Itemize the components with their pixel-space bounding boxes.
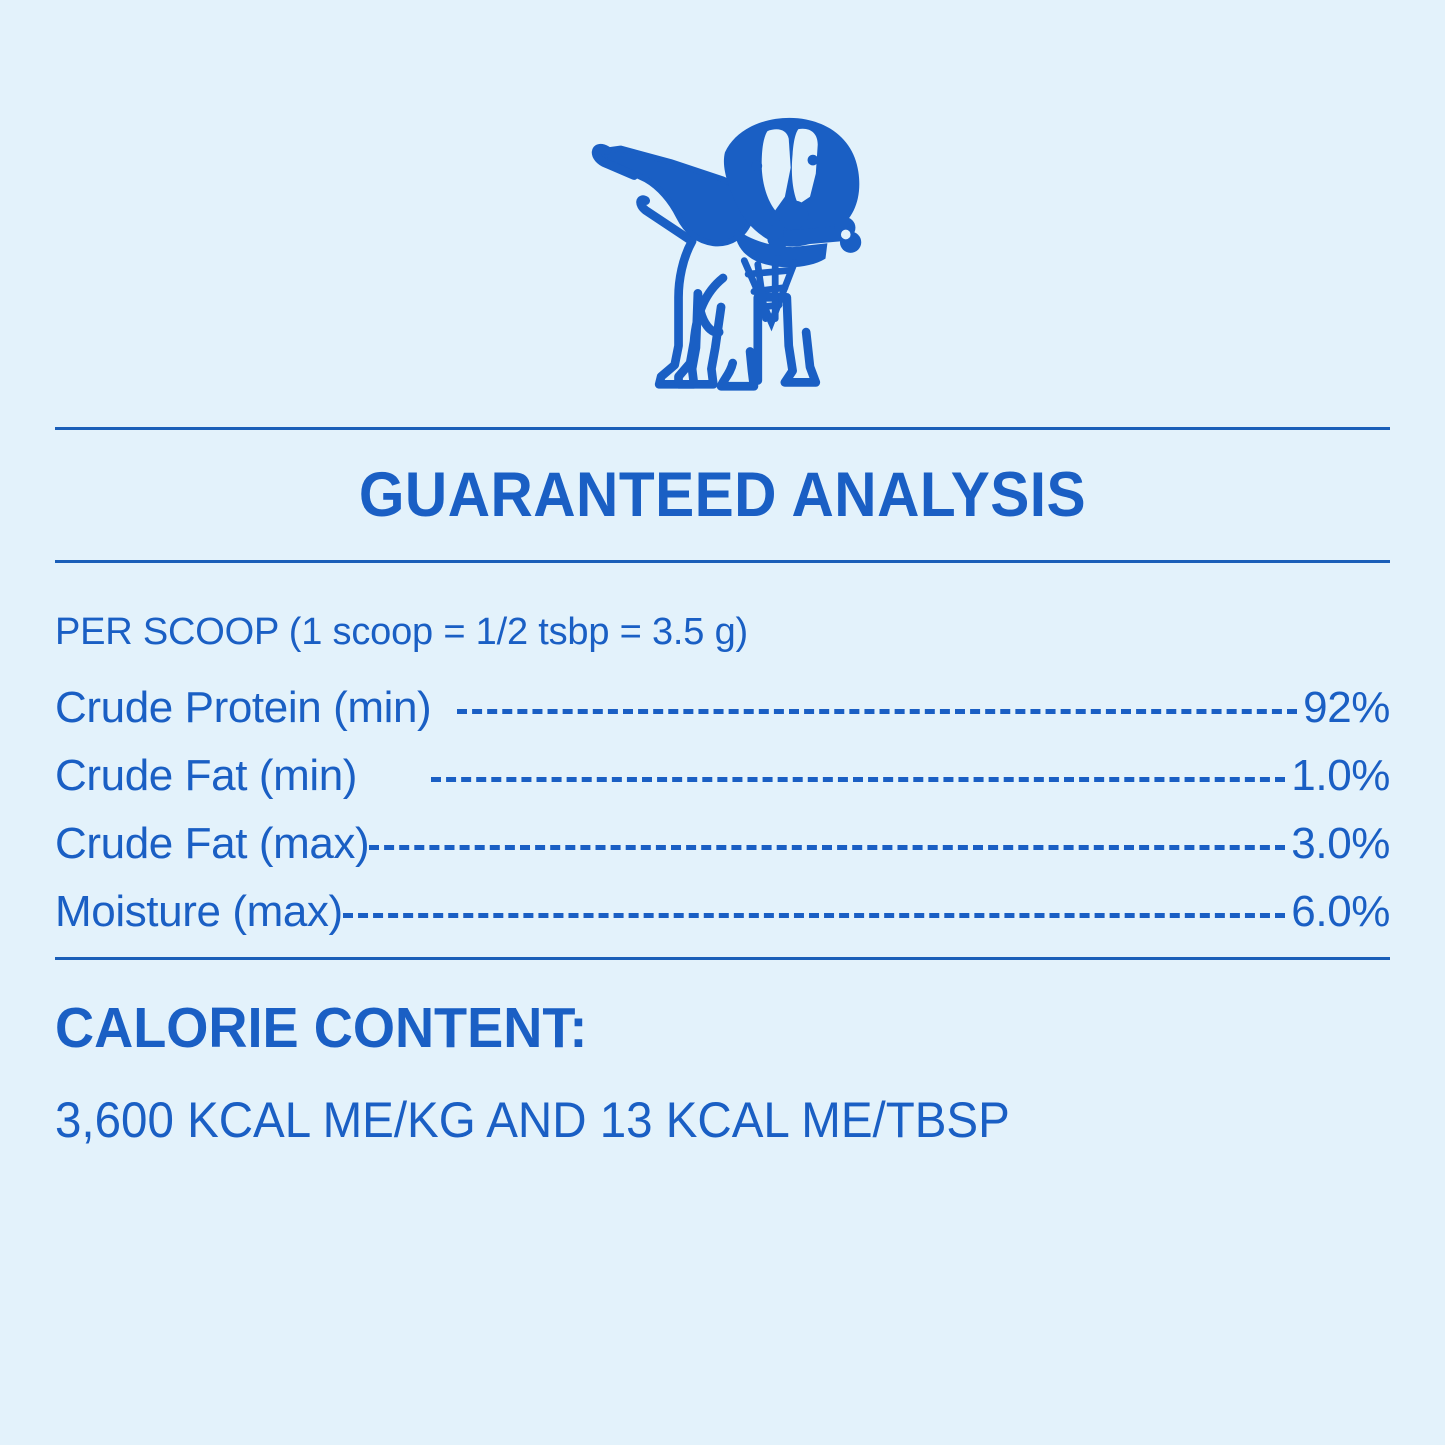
table-row: Crude Fat (max) 3.0%	[55, 822, 1390, 890]
table-row: Moisture (max) 6.0%	[55, 890, 1390, 958]
leader-dots	[431, 777, 1285, 782]
dog-with-bone-logo	[0, 104, 1445, 394]
dog-eye-left	[751, 161, 762, 172]
table-row: Crude Protein (min) 92%	[55, 686, 1390, 754]
nutrient-label: Crude Protein (min)	[55, 686, 431, 730]
serving-note: PER SCOOP (1 scoop = 1/2 tsbp = 3.5 g)	[55, 612, 748, 654]
divider-top	[55, 427, 1390, 430]
calorie-content-heading: CALORIE CONTENT:	[55, 1000, 587, 1057]
page-title: GUARANTEED ANALYSIS	[51, 464, 1395, 527]
leader-dots	[343, 913, 1286, 918]
nutrient-label: Moisture (max)	[55, 890, 343, 934]
dog-eye-right	[807, 155, 818, 166]
divider-above-calories	[55, 957, 1390, 960]
nutrient-label: Crude Fat (max)	[55, 822, 369, 866]
nutrient-value: 6.0%	[1291, 890, 1390, 934]
nutrient-label: Crude Fat (min)	[55, 754, 357, 798]
calorie-content-value: 3,600 KCAL ME/KG AND 13 KCAL ME/TBSP	[55, 1095, 1010, 1145]
dog-with-bone-icon	[578, 104, 868, 394]
nutrient-value: 92%	[1303, 686, 1390, 730]
divider-under-title	[55, 560, 1390, 563]
leader-dots	[457, 709, 1297, 714]
nutrient-table: Crude Protein (min) 92% Crude Fat (min) …	[55, 686, 1390, 958]
leader-dots	[369, 845, 1285, 850]
nutrient-value: 1.0%	[1291, 754, 1390, 798]
nutrient-value: 3.0%	[1291, 822, 1390, 866]
table-row: Crude Fat (min) 1.0%	[55, 754, 1390, 822]
guaranteed-analysis-panel: GUARANTEED ANALYSIS PER SCOOP (1 scoop =…	[0, 0, 1445, 1445]
